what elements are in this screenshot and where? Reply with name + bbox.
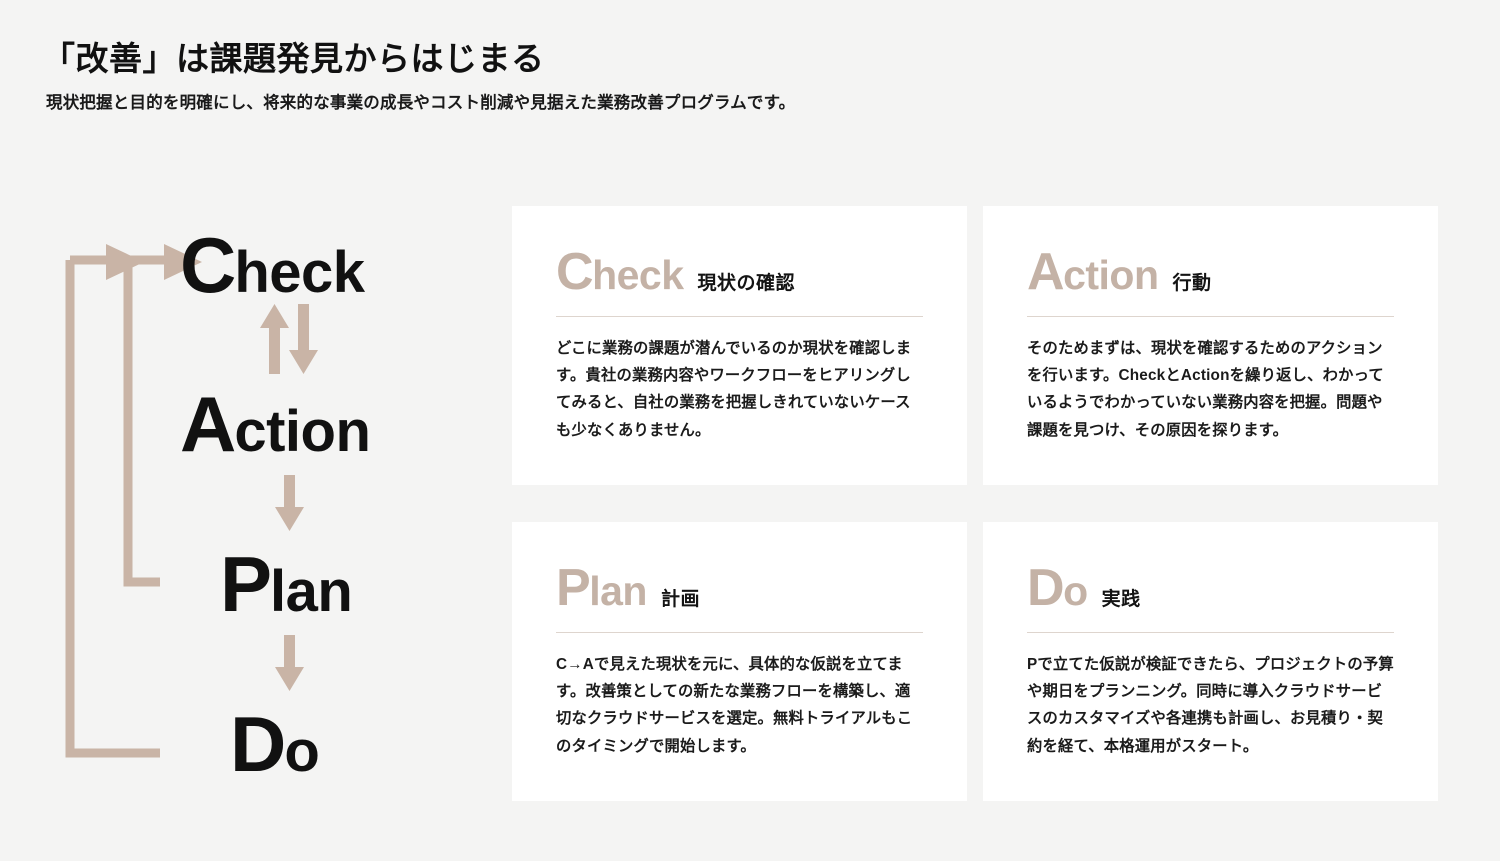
cycle-step-check-rest: heck bbox=[234, 240, 364, 305]
cycle-step-check: Check bbox=[180, 226, 365, 304]
card-do-title-en: Do bbox=[1027, 562, 1088, 614]
card-action-body: そのためまずは、現状を確認するためのアクションを行います。CheckとActio… bbox=[1027, 335, 1394, 444]
do-check-loop-icon bbox=[70, 244, 160, 753]
card-action: Action 行動 そのためまずは、現状を確認するためのアクションを行います。C… bbox=[983, 206, 1438, 485]
card-action-title-cap: A bbox=[1027, 243, 1063, 301]
arrow-down-plan-do-icon bbox=[275, 635, 304, 691]
card-do-header: Do 実践 bbox=[1027, 562, 1394, 633]
card-check-title-en: Check bbox=[556, 246, 684, 298]
arrow-down-action-plan-icon bbox=[275, 475, 304, 531]
card-check-body: どこに業務の課題が潜んでいるのか現状を確認します。貴社の業務内容やワークフローを… bbox=[556, 335, 923, 444]
card-plan-title-cap: P bbox=[556, 559, 589, 617]
cycle-step-action-cap: A bbox=[180, 380, 234, 468]
pdca-cycle-diagram: Check Action Plan Do bbox=[40, 200, 470, 820]
card-do-title-ja: 実践 bbox=[1102, 584, 1141, 615]
card-do: Do 実践 Pで立てた仮説が検証できたら、プロジェクトの予算や期日をプランニング… bbox=[983, 522, 1438, 801]
card-check: Check 現状の確認 どこに業務の課題が潜んでいるのか現状を確認します。貴社の… bbox=[512, 206, 967, 485]
page-header: 「改善」は課題発見からはじまる 現状把握と目的を明確にし、将来的な事業の成長やコ… bbox=[42, 38, 1142, 113]
cycle-step-do-cap: D bbox=[230, 700, 284, 788]
cycle-step-check-cap: C bbox=[180, 221, 234, 309]
card-plan-title-ja: 計画 bbox=[661, 584, 700, 615]
cycle-step-plan-cap: P bbox=[220, 540, 270, 628]
cycle-step-do-rest: o bbox=[284, 719, 319, 784]
card-action-title-en: Action bbox=[1027, 246, 1159, 298]
cycle-step-plan-rest: lan bbox=[270, 559, 352, 624]
card-action-title-ja: 行動 bbox=[1173, 268, 1212, 299]
cycle-step-action-rest: ction bbox=[234, 399, 370, 464]
card-plan-title-rest: lan bbox=[589, 568, 647, 614]
card-action-header: Action 行動 bbox=[1027, 246, 1394, 317]
cycle-step-do: Do bbox=[230, 705, 319, 783]
card-plan-body: C→Aで見えた現状を元に、具体的な仮説を立てます。改善策としての新たな業務フロー… bbox=[556, 651, 923, 760]
cycle-step-action: Action bbox=[180, 385, 370, 463]
cycle-step-plan: Plan bbox=[220, 545, 352, 623]
arrow-up-icon bbox=[260, 304, 289, 374]
card-check-title-ja: 現状の確認 bbox=[698, 268, 796, 299]
card-check-title-cap: C bbox=[556, 243, 592, 301]
page-subtitle: 現状把握と目的を明確にし、将来的な事業の成長やコスト削減や見据えた業務改善プログ… bbox=[46, 89, 1142, 113]
page-title: 「改善」は課題発見からはじまる bbox=[42, 38, 1142, 79]
card-do-title-cap: D bbox=[1027, 559, 1063, 617]
card-do-title-rest: o bbox=[1063, 568, 1088, 614]
card-action-title-rest: ction bbox=[1063, 252, 1158, 298]
card-plan-title-en: Plan bbox=[556, 562, 647, 614]
arrow-down-icon bbox=[289, 304, 318, 374]
card-plan-header: Plan 計画 bbox=[556, 562, 923, 633]
card-check-title-rest: heck bbox=[592, 252, 683, 298]
card-check-header: Check 現状の確認 bbox=[556, 246, 923, 317]
card-do-body: Pで立てた仮説が検証できたら、プロジェクトの予算や期日をプランニング。同時に導入… bbox=[1027, 651, 1394, 760]
card-plan: Plan 計画 C→Aで見えた現状を元に、具体的な仮説を立てます。改善策としての… bbox=[512, 522, 967, 801]
pdca-cards-grid: Check 現状の確認 どこに業務の課題が潜んでいるのか現状を確認します。貴社の… bbox=[512, 206, 1438, 801]
